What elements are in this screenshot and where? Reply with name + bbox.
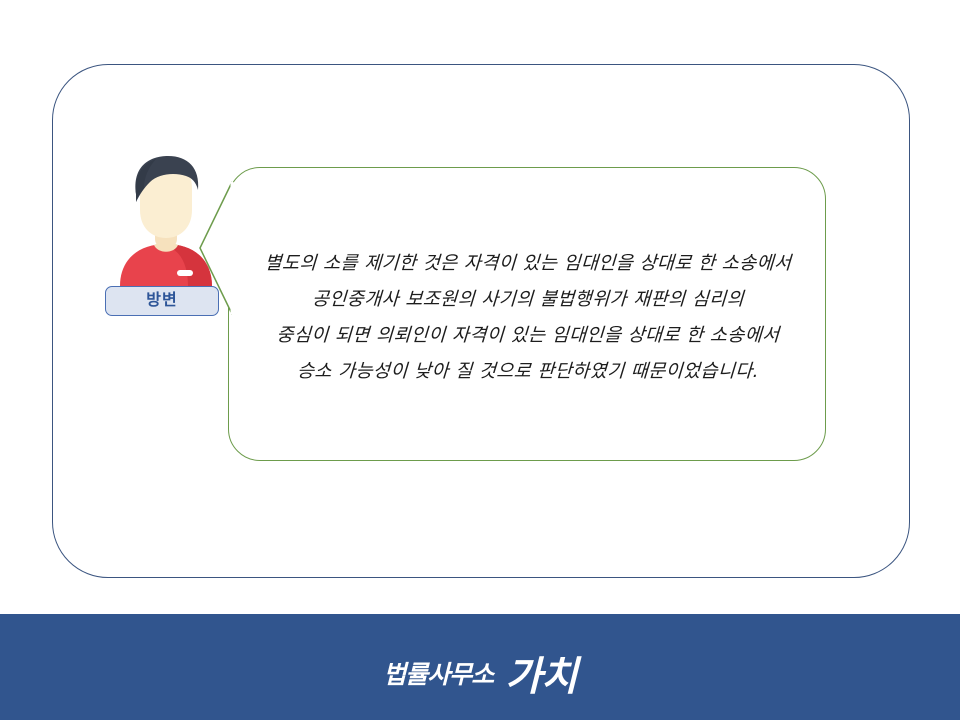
footer-logo: 법률사무소가치	[0, 644, 960, 702]
slide-canvas: 방변 별도의 소를 제기한 것은 자격이 있는 임대인을 상대로 한 소송에서 …	[0, 0, 960, 720]
footer-bar: 법률사무소가치	[0, 614, 960, 720]
footer-logo-name: 가치	[505, 654, 577, 700]
speaker-name-badge: 방변	[105, 286, 219, 316]
avatar-pocket	[177, 270, 193, 276]
bubble-line: 별도의 소를 제기한 것은 자격이 있는 임대인을 상대로 한 소송에서	[237, 246, 819, 282]
bubble-line: 승소 가능성이 낮아 질 것으로 판단하였기 때문이었습니다.	[237, 354, 819, 390]
speech-bubble-text: 별도의 소를 제기한 것은 자격이 있는 임대인을 상대로 한 소송에서 공인중…	[238, 246, 818, 390]
speaker-avatar	[114, 154, 218, 286]
bubble-line: 중심이 되면 의뢰인이 자격이 있는 임대인을 상대로 한 소송에서	[237, 318, 819, 354]
bubble-line: 공인중개사 보조원의 사기의 불법행위가 재판의 심리의	[237, 282, 819, 318]
speaker-name-label: 방변	[146, 293, 177, 309]
footer-logo-office: 법률사무소	[383, 660, 493, 689]
